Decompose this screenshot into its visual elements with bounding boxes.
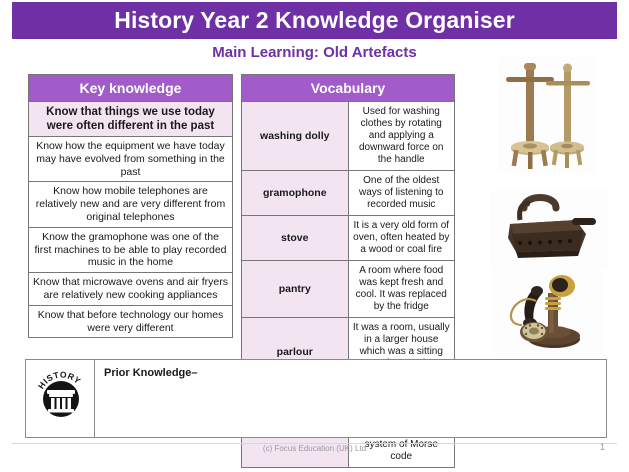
prior-knowledge-label: Prior Knowledge– [104,367,198,379]
table-row: Know the gramophone was one of the first… [29,227,233,272]
washing-dolly-photo [498,57,596,173]
vocabulary-term: washing dolly [242,102,349,171]
vocabulary-definition: A room where food was kept fresh and coo… [348,261,455,318]
vocabulary-definition: It is a very old form of oven, often hea… [348,216,455,261]
table-header-row: Vocabulary [242,75,455,102]
page-title: History Year 2 Knowledge Organiser [114,7,515,34]
table-row: stove It is a very old form of oven, oft… [242,216,455,261]
vocabulary-definition: One of the oldest ways of listening to r… [348,171,455,216]
table-row: pantry A room where food was kept fresh … [242,261,455,318]
key-knowledge-item: Know how mobile telephones are relativel… [29,182,233,227]
key-knowledge-heading: Key knowledge [29,75,233,102]
knowledge-organiser-page: History Year 2 Knowledge Organiser Main … [0,0,629,472]
key-knowledge-item: Know how the equipment we have today may… [29,137,233,182]
table-row: Know that before technology our homes we… [29,305,233,338]
table-row: gramophone One of the oldest ways of lis… [242,171,455,216]
table-row: Know how mobile telephones are relativel… [29,182,233,227]
table-row: Know that microwave ovens and air fryers… [29,273,233,306]
vocabulary-term: gramophone [242,171,349,216]
history-badge-icon: HISTORY [36,368,86,420]
table-row: Know that things we use today were often… [29,102,233,137]
table-row: washing dolly Used for washing clothes b… [242,102,455,171]
candlestick-telephone-photo [492,267,602,353]
key-knowledge-table: Key knowledge Know that things we use to… [28,74,233,338]
vocabulary-term: pantry [242,261,349,318]
vocabulary-heading: Vocabulary [242,75,455,102]
vocabulary-definition: Used for washing clothes by rotating and… [348,102,455,171]
vocabulary-term: stove [242,216,349,261]
page-header-banner: History Year 2 Knowledge Organiser [12,2,617,39]
prior-knowledge-badge-cell: HISTORY [26,360,95,437]
table-row: Know how the equipment we have today may… [29,137,233,182]
key-knowledge-item: Know the gramophone was one of the first… [29,227,233,272]
footer-copyright: (c) Focus Education (UK) Ltd [0,444,629,453]
flat-iron-photo [490,190,608,268]
key-knowledge-item: Know that before technology our homes we… [29,305,233,338]
footer-page-number: 1 [600,442,605,452]
table-header-row: Key knowledge [29,75,233,102]
key-knowledge-item: Know that things we use today were often… [29,102,233,137]
prior-knowledge-box[interactable]: HISTORY Prior Knowledge– [25,359,607,438]
key-knowledge-item: Know that microwave ovens and air fryers… [29,273,233,306]
